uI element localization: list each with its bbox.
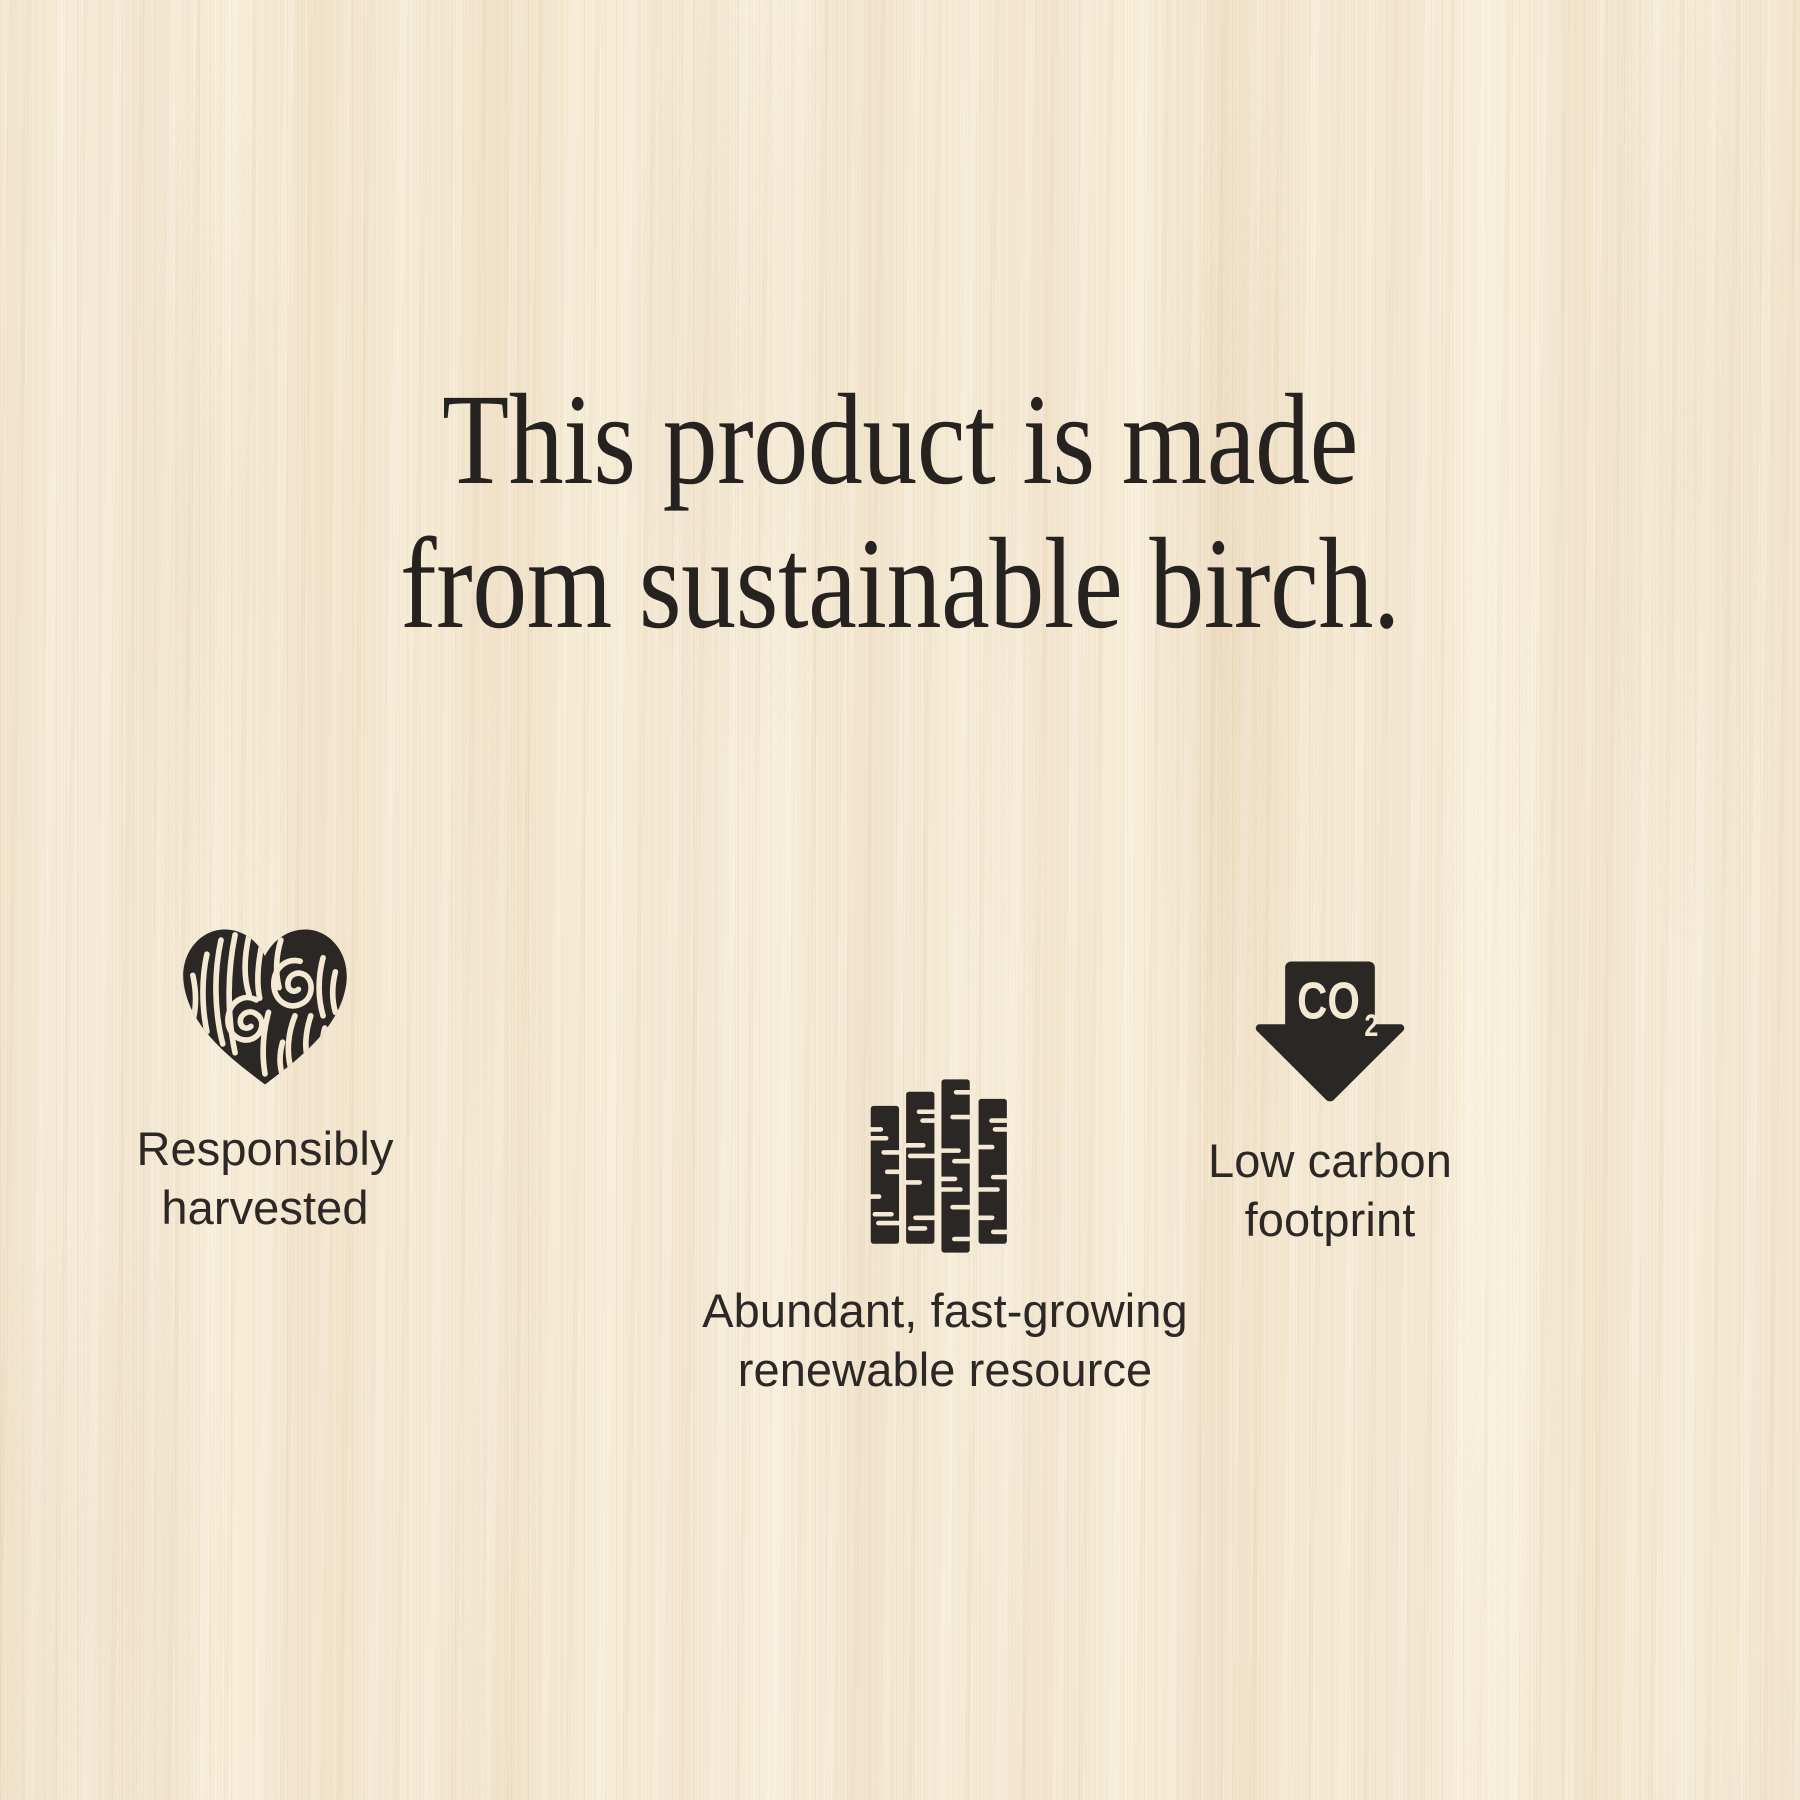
page-title: This product is made from sustainable bi… (140, 368, 1661, 657)
wood-background-base (0, 0, 1800, 1800)
caption-line-2: footprint (1095, 1190, 1565, 1249)
feature-caption: Low carbon footprint (1095, 1131, 1565, 1249)
wood-grain-blotches (0, 0, 1800, 1800)
headline-line-1: This product is made (140, 368, 1661, 512)
co2-down-arrow-icon-wrap: CO 2 (1095, 930, 1565, 1105)
feature-caption: Responsibly harvested (75, 1119, 455, 1237)
sustainability-poster: This product is made from sustainable bi… (0, 0, 1800, 1800)
co2-down-arrow-icon: CO 2 (1252, 957, 1408, 1105)
caption-line-2: harvested (75, 1178, 455, 1237)
wood-grain-heart-icon-wrap (75, 915, 455, 1095)
caption-line-1: Abundant, fast-growing (625, 1281, 1265, 1340)
caption-line-1: Low carbon (1095, 1131, 1565, 1190)
headline-line-2: from sustainable birch. (140, 512, 1661, 656)
feature-low-carbon-footprint: CO 2 Low carbon footprint (1095, 930, 1565, 1249)
wood-grain-heart-icon (177, 919, 353, 1095)
feature-caption: Abundant, fast-growing renewable resourc… (625, 1281, 1265, 1399)
birch-trunks-icon (869, 1077, 1021, 1255)
wood-grain-streaks (0, 0, 1800, 1800)
feature-responsibly-harvested: Responsibly harvested (75, 915, 455, 1237)
wood-grain-fine-lines (0, 0, 1800, 1800)
background-vignette (0, 0, 1800, 1800)
co2-subscript: 2 (1364, 1009, 1378, 1044)
caption-line-2: renewable resource (625, 1340, 1265, 1399)
caption-line-1: Responsibly (75, 1119, 455, 1178)
co2-text: CO (1297, 972, 1360, 1031)
